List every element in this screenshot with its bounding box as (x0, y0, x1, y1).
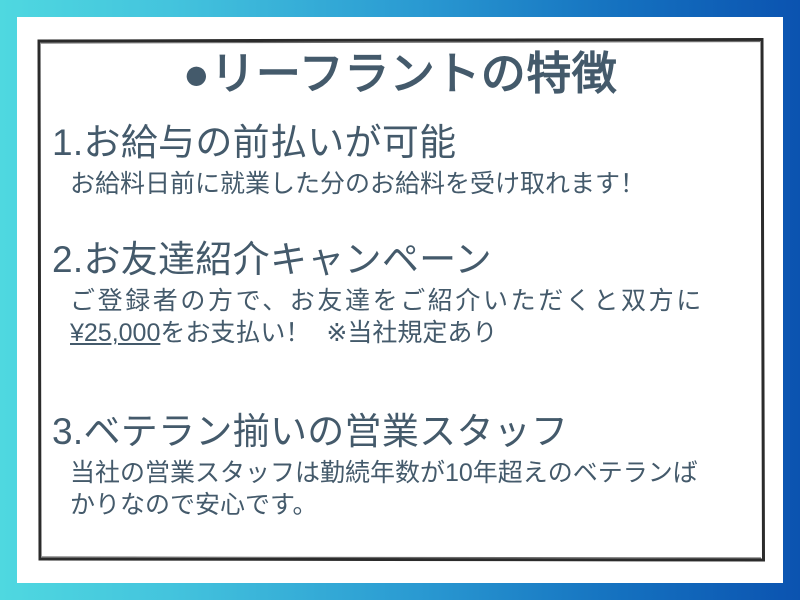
page-title: ●リーフラントの特徴 (17, 50, 783, 97)
feature-3-body-line-1: 当社の営業スタッフは勤続年数が10年超えのベテランば (70, 457, 752, 489)
referral-amount-suffix: をお支払い！ (160, 319, 310, 347)
feature-2-body-line-2: ¥25,000をお支払い！※当社規定あり (70, 317, 752, 349)
content-card: ●リーフラントの特徴 1.お給与の前払いが可能 お給料日前に就業した分のお給料を… (17, 17, 783, 583)
slide-background: ●リーフラントの特徴 1.お給与の前払いが可能 お給料日前に就業した分のお給料を… (0, 0, 800, 600)
feature-2-body: ご登録者の方で、お友達をご紹介いただくと双方に ¥25,000をお支払い！※当社… (52, 285, 752, 349)
feature-3-heading: 3.ベテラン揃いの営業スタッフ (52, 411, 752, 452)
feature-1-body: お給料日前に就業した分のお給料を受け取れます！ (52, 168, 752, 200)
referral-amount: ¥25,000 (70, 319, 160, 347)
feature-2-body-line-1: ご登録者の方で、お友達をご紹介いただくと双方に (70, 285, 752, 317)
feature-section-3: 3.ベテラン揃いの営業スタッフ 当社の営業スタッフは勤続年数が10年超えのベテラ… (52, 411, 752, 521)
feature-3-body-line-2: かりなので安心です。 (70, 489, 752, 521)
feature-1-heading: 1.お給与の前払いが可能 (52, 122, 752, 163)
feature-3-body: 当社の営業スタッフは勤続年数が10年超えのベテランば かりなので安心です。 (52, 457, 752, 521)
feature-1-body-line-1: お給料日前に就業した分のお給料を受け取れます！ (70, 168, 752, 200)
feature-section-1: 1.お給与の前払いが可能 お給料日前に就業した分のお給料を受け取れます！ (52, 122, 752, 200)
referral-note: ※当社規定あり (326, 319, 497, 347)
feature-section-2: 2.お友達紹介キャンペーン ご登録者の方で、お友達をご紹介いただくと双方に ¥2… (52, 239, 752, 349)
slide-content: ●リーフラントの特徴 1.お給与の前払いが可能 お給料日前に就業した分のお給料を… (17, 17, 783, 583)
feature-2-heading: 2.お友達紹介キャンペーン (52, 239, 752, 280)
